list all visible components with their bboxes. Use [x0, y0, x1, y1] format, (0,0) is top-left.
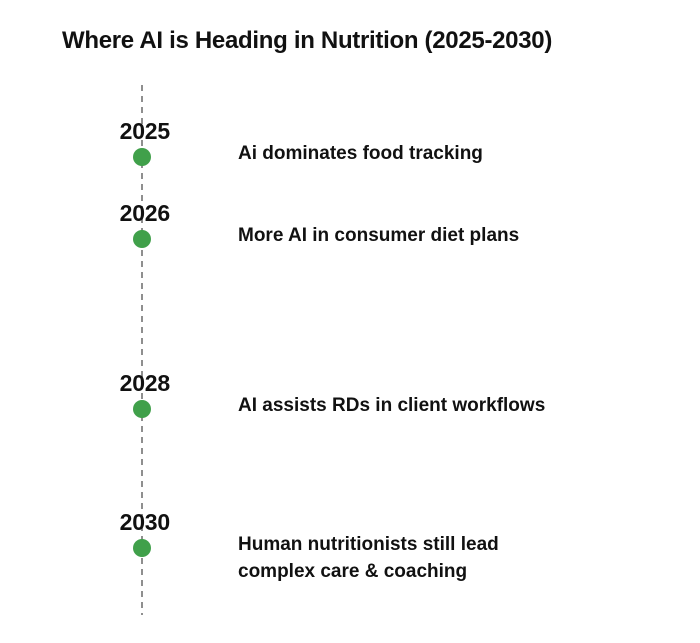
timeline-marker-dot-icon	[133, 148, 151, 166]
timeline-event-year: 2028	[120, 370, 170, 397]
timeline-event-label: Ai dominates food tracking	[238, 140, 483, 167]
timeline-event-year: 2025	[120, 118, 170, 145]
timeline-event-label: AI assists RDs in client workflows	[238, 392, 545, 419]
timeline-marker-dot-icon	[133, 539, 151, 557]
timeline-chart: 2025 Ai dominates food tracking 2026 Mor…	[0, 0, 700, 643]
timeline-event-label: Human nutritionists still lead complex c…	[238, 531, 499, 585]
timeline-event-label: More AI in consumer diet plans	[238, 222, 519, 249]
timeline-marker-dot-icon	[133, 400, 151, 418]
timeline-marker-dot-icon	[133, 230, 151, 248]
timeline-event-year: 2030	[120, 509, 170, 536]
timeline-event-year: 2026	[120, 200, 170, 227]
